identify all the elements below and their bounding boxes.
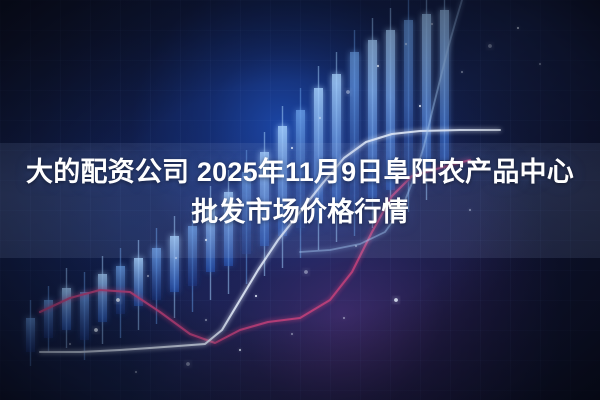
banner-image: 大的配资公司 2025年11月9日阜阳农产品中心 批发市场价格行情: [0, 0, 600, 400]
page-title: 大的配资公司 2025年11月9日阜阳农产品中心 批发市场价格行情: [0, 152, 600, 232]
